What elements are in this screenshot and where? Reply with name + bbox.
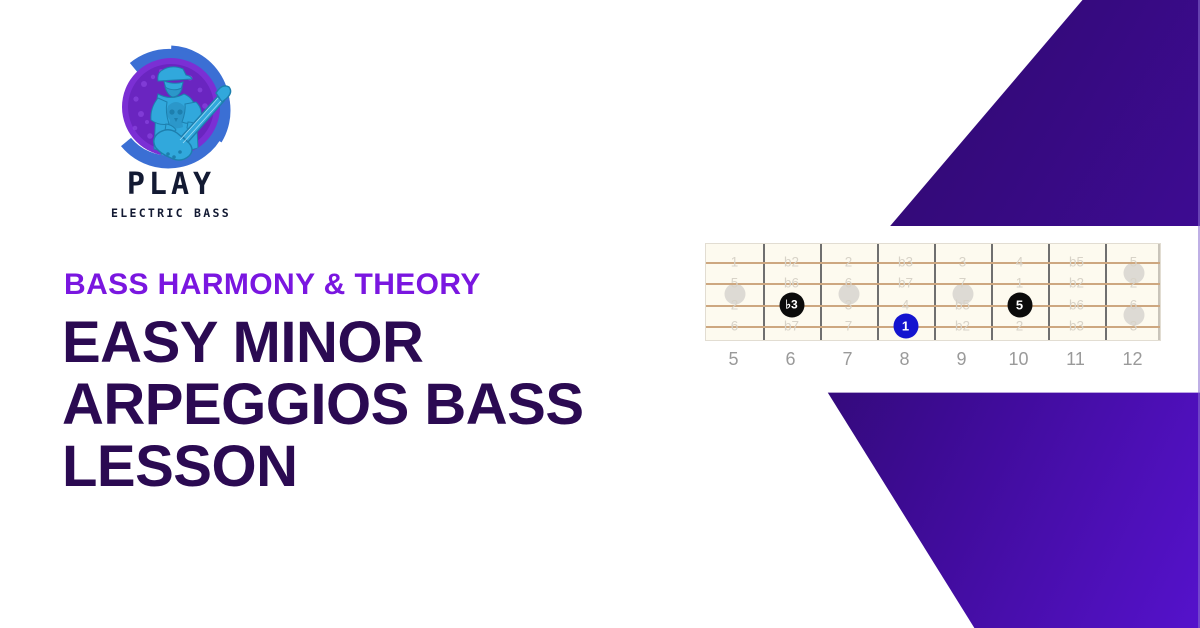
- logo-wordmark: PLAY: [86, 170, 256, 200]
- logo-tagline: ELECTRIC BASS: [86, 206, 256, 220]
- page-title: EASY MINOR ARPEGGIOS BASS LESSON: [62, 312, 662, 498]
- string-line-a: [706, 305, 1160, 307]
- scale-degree-label: 6: [1130, 297, 1138, 312]
- scale-degree-label: b3: [1069, 319, 1084, 334]
- scale-degree-label: 5: [731, 276, 739, 291]
- scale-degree-label: b5: [1069, 255, 1084, 270]
- scale-degree-label: 4: [1016, 255, 1024, 270]
- scale-degree-label: 2: [845, 255, 853, 270]
- scale-degree-label: b6: [784, 276, 799, 291]
- scale-degree-label: b2: [955, 319, 970, 334]
- string-line-e: [706, 326, 1160, 328]
- fret-number: 7: [842, 349, 852, 370]
- scale-degree-label: b2: [784, 255, 799, 270]
- scale-degree-label: b3: [898, 255, 913, 270]
- poster-canvas: PLAY ELECTRIC BASS BASS HARMONY & THEORY…: [0, 0, 1200, 628]
- bassist-circle-logo-icon: [106, 44, 236, 174]
- scale-degree-label: 3: [845, 297, 853, 312]
- scale-degree-label: 2: [1130, 276, 1138, 291]
- fret-number: 6: [785, 349, 795, 370]
- scale-degree-label: b5: [955, 297, 970, 312]
- scale-degree-label: b7: [784, 319, 799, 334]
- fret-number: 11: [1066, 349, 1085, 370]
- string-line-g: [706, 262, 1160, 264]
- fret-number: 9: [956, 349, 966, 370]
- brand-logo: PLAY ELECTRIC BASS: [86, 44, 256, 220]
- fretboard-diagram: 1b22b334b555b66b771b222b334b55b666b771b2…: [705, 243, 1161, 379]
- note-marker-5[interactable]: 5: [1007, 292, 1032, 317]
- scale-degree-label: 7: [959, 276, 967, 291]
- scale-degree-label: 5: [1130, 255, 1138, 270]
- fret-number: 5: [728, 349, 738, 370]
- scale-degree-label: 2: [731, 297, 739, 312]
- scale-degree-label: b2: [1069, 276, 1084, 291]
- scale-degree-label: b7: [898, 276, 913, 291]
- decorative-shape-top: [740, 0, 1200, 226]
- scale-degree-label: 4: [902, 297, 910, 312]
- category-eyebrow: BASS HARMONY & THEORY: [64, 268, 481, 302]
- scale-degree-label: 6: [845, 276, 853, 291]
- scale-degree-label: 6: [731, 319, 739, 334]
- fret-number: 10: [1008, 349, 1028, 370]
- decorative-shape-bottom: [740, 372, 1200, 628]
- scale-degree-label: 2: [1016, 319, 1024, 334]
- scale-degree-label: 3: [1130, 319, 1138, 334]
- note-marker-flat3[interactable]: ♭3: [779, 292, 804, 317]
- scale-degree-label: 1: [1016, 276, 1024, 291]
- fret-number-row: 56789101112: [705, 345, 1161, 379]
- fretboard-surface: 1b22b334b555b66b771b222b334b55b666b771b2…: [705, 243, 1161, 341]
- scale-degree-label: 7: [845, 319, 853, 334]
- scale-degree-label: 1: [731, 255, 739, 270]
- fret-number: 8: [899, 349, 909, 370]
- scale-degree-label: 3: [959, 255, 967, 270]
- string-line-d: [706, 283, 1160, 285]
- fret-number: 12: [1122, 349, 1142, 370]
- note-marker-1[interactable]: 1: [893, 314, 918, 339]
- scale-degree-label: b6: [1069, 297, 1084, 312]
